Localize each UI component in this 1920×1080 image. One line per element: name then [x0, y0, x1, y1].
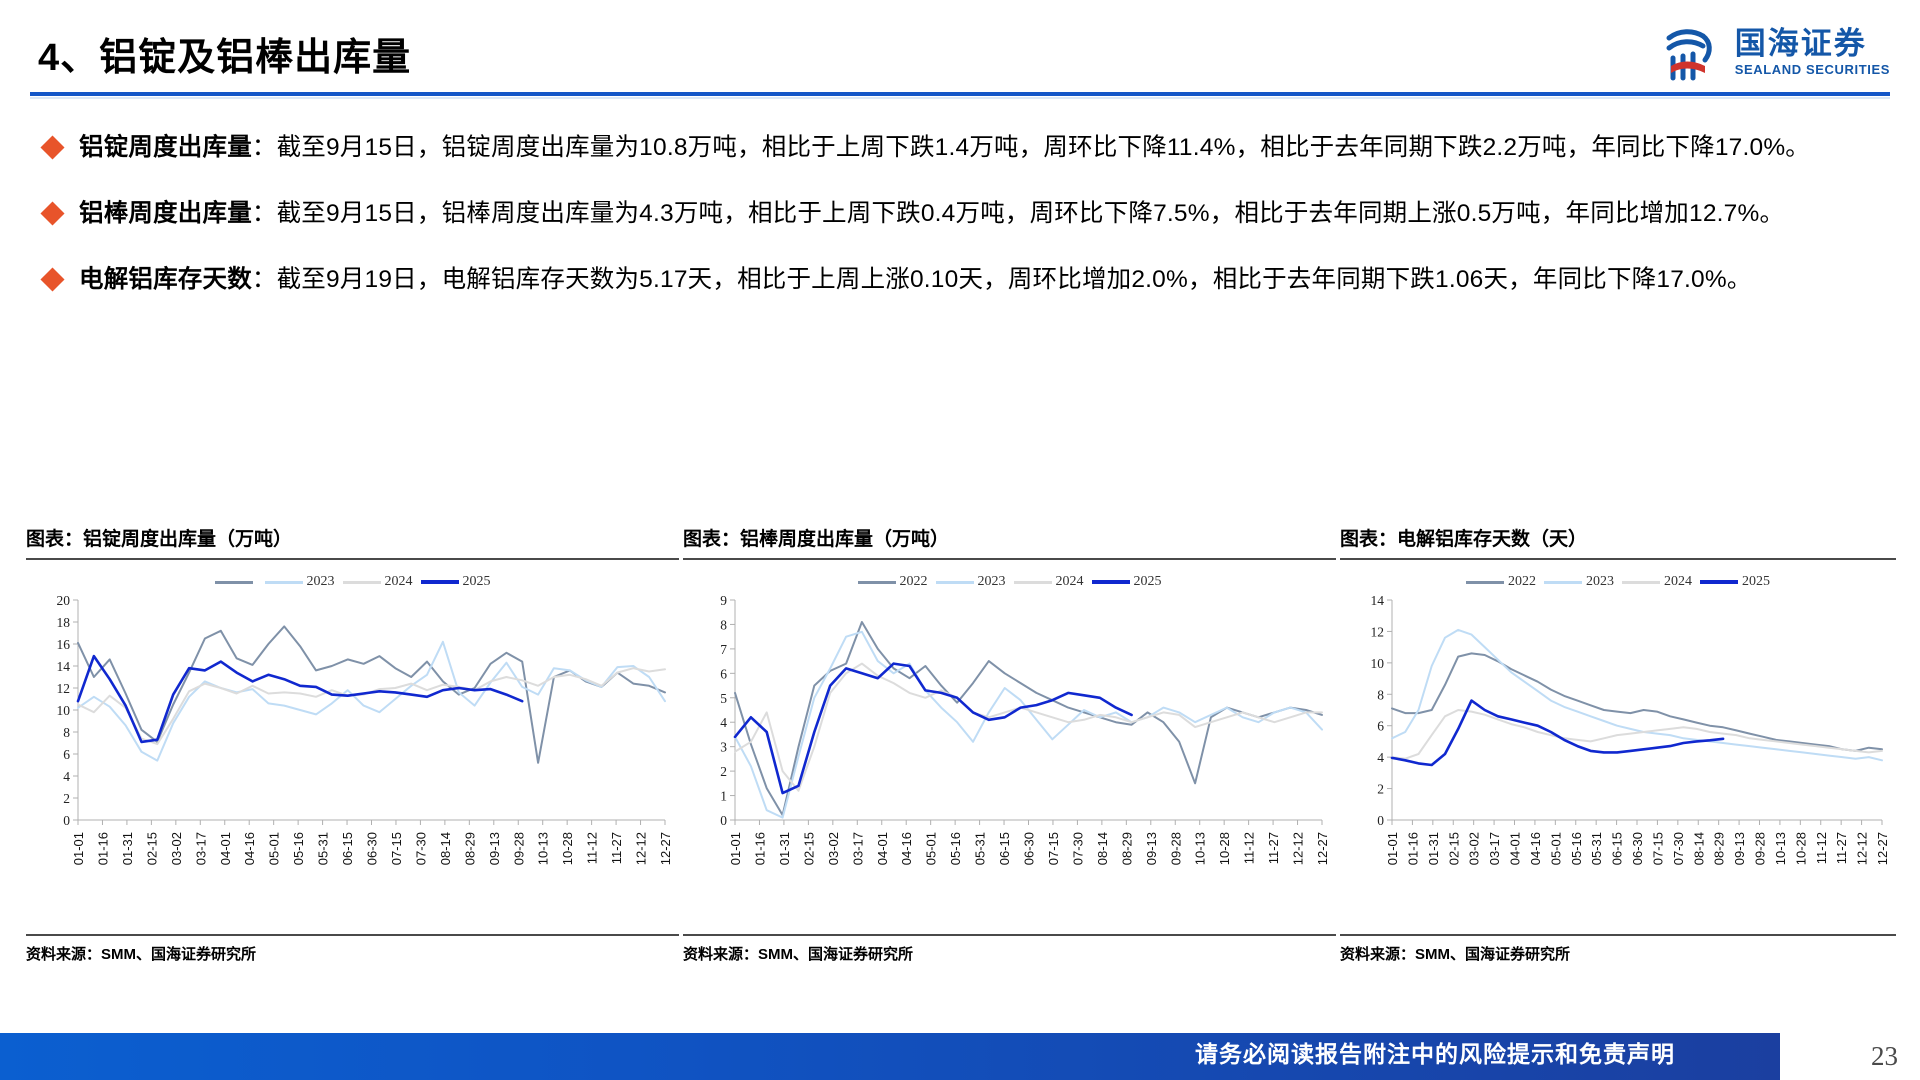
x-tick-label: 09-13	[1732, 832, 1747, 865]
svg-text:12: 12	[57, 681, 71, 696]
x-tick-label: 08-29	[462, 832, 477, 865]
svg-text:14: 14	[57, 659, 71, 674]
x-tick-label: 01-01	[1385, 832, 1400, 865]
chart-source: 资料来源：SMM、国海证券研究所	[26, 936, 679, 964]
x-tick-label: 12-12	[634, 832, 649, 865]
x-tick-label: 10-28	[1793, 832, 1808, 865]
list-item: 铝棒周度出库量：截至9月15日，铝棒周度出库量为4.3万吨，相比于上周下跌0.4…	[44, 194, 1880, 234]
legend-item: 2023	[1544, 574, 1614, 590]
bullet-body: ：截至9月19日，电解铝库存天数为5.17天，相比于上周上涨0.10天，周环比增…	[252, 266, 1752, 293]
x-tick-label: 07-15	[389, 832, 404, 865]
x-tick-label: 01-16	[95, 832, 110, 865]
bullet-lead: 铝锭周度出库量	[79, 134, 252, 161]
x-tick-label: 04-16	[899, 832, 914, 865]
x-tick-label: 07-15	[1650, 832, 1665, 865]
chart-panel-inventory-days: 图表：电解铝库存天数（天） 2022202320242025 024681012…	[1340, 524, 1896, 964]
x-tick-label: 04-16	[1528, 832, 1543, 865]
x-tick-label: 03-02	[826, 832, 841, 865]
svg-text:4: 4	[720, 715, 727, 730]
bullet-body: ：截至9月15日，铝棒周度出库量为4.3万吨，相比于上周下跌0.4万吨，周环比下…	[252, 200, 1784, 227]
legend-item: 2025	[1092, 574, 1162, 590]
series-line-2024	[78, 668, 665, 744]
x-tick-label: 10-28	[1217, 832, 1232, 865]
chart-legend: 2022202320242025	[683, 560, 1336, 592]
svg-text:5: 5	[720, 691, 727, 706]
x-tick-label: 07-30	[413, 832, 428, 865]
legend-item: 2024	[1622, 574, 1692, 590]
bullet-list: 铝锭周度出库量：截至9月15日，铝锭周度出库量为10.8万吨，相比于上周下跌1.…	[44, 128, 1880, 326]
bullet-lead: 铝棒周度出库量	[79, 200, 252, 227]
chart-source: 资料来源：SMM、国海证券研究所	[1340, 936, 1896, 964]
line-chart: 0246810121401-0101-1601-3102-1503-0203-1…	[1340, 592, 1896, 932]
x-tick-label: 12-27	[1875, 832, 1890, 865]
x-tick-label: 09-28	[511, 832, 526, 865]
x-tick-label: 11-12	[1814, 832, 1829, 864]
legend-item: 2024	[343, 574, 413, 590]
svg-text:7: 7	[720, 642, 727, 657]
legend-item: 2023	[265, 574, 335, 590]
x-tick-label: 02-15	[1446, 832, 1461, 865]
svg-text:6: 6	[63, 747, 70, 762]
legend-label: 2023	[1586, 574, 1614, 590]
x-tick-label: 01-31	[777, 832, 792, 865]
x-tick-label: 08-29	[1119, 832, 1134, 865]
bullet-text: 铝棒周度出库量：截至9月15日，铝棒周度出库量为4.3万吨，相比于上周下跌0.4…	[79, 194, 1784, 234]
legend-swatch	[343, 581, 381, 584]
diamond-bullet-icon	[40, 201, 64, 225]
svg-text:10: 10	[1371, 656, 1385, 671]
series-line-2025	[78, 656, 522, 742]
x-tick-label: 07-30	[1070, 832, 1085, 865]
x-tick-label: 07-30	[1671, 832, 1686, 865]
x-tick-label: 05-31	[1589, 832, 1604, 865]
chart-canvas: 0246810121401-0101-1601-3102-1503-0203-1…	[1340, 592, 1896, 932]
x-tick-label: 01-01	[728, 832, 743, 865]
legend-label: 2024	[1664, 574, 1692, 590]
legend-swatch	[421, 580, 459, 584]
x-tick-label: 08-14	[438, 832, 453, 865]
svg-text:8: 8	[63, 725, 70, 740]
x-tick-label: 10-13	[536, 832, 551, 865]
line-chart: 012345678901-0101-1601-3102-1503-0203-17…	[683, 592, 1336, 932]
x-tick-label: 10-28	[560, 832, 575, 865]
x-tick-label: 05-16	[1569, 832, 1584, 865]
series-line-2022	[1392, 653, 1882, 751]
x-tick-label: 04-01	[875, 832, 890, 865]
chart-panel-aluminium-ingot: 图表：铝锭周度出库量（万吨） 202320242025 024681012141…	[26, 524, 679, 964]
x-tick-label: 12-27	[658, 832, 673, 865]
x-tick-label: 09-28	[1753, 832, 1768, 865]
chart-legend: 2022202320242025	[1340, 560, 1896, 592]
svg-text:8: 8	[1377, 687, 1384, 702]
x-tick-label: 04-16	[242, 832, 257, 865]
x-tick-label: 01-31	[1426, 832, 1441, 865]
svg-text:6: 6	[1377, 719, 1384, 734]
legend-swatch	[858, 581, 896, 584]
legend-label: 2022	[900, 574, 928, 590]
svg-text:14: 14	[1371, 593, 1385, 608]
x-tick-label: 06-15	[340, 832, 355, 865]
svg-text:3: 3	[720, 740, 727, 755]
header-divider-light	[30, 97, 1890, 99]
x-tick-label: 05-01	[1548, 832, 1563, 865]
x-tick-label: 02-15	[801, 832, 816, 865]
x-tick-label: 11-27	[609, 832, 624, 864]
diamond-bullet-icon	[40, 267, 64, 291]
list-item: 铝锭周度出库量：截至9月15日，铝锭周度出库量为10.8万吨，相比于上周下跌1.…	[44, 128, 1880, 168]
x-tick-label: 05-16	[948, 832, 963, 865]
svg-text:1: 1	[720, 789, 727, 804]
svg-text:2: 2	[1377, 782, 1384, 797]
svg-text:20: 20	[57, 593, 71, 608]
x-tick-label: 06-15	[1610, 832, 1625, 865]
legend-item: 2025	[421, 574, 491, 590]
svg-text:16: 16	[57, 637, 71, 652]
x-tick-label: 10-13	[1193, 832, 1208, 865]
legend-swatch	[1622, 581, 1660, 584]
legend-item: 2022	[1466, 574, 1536, 590]
list-item: 电解铝库存天数：截至9月19日，电解铝库存天数为5.17天，相比于上周上涨0.1…	[44, 260, 1880, 300]
svg-text:18: 18	[57, 615, 71, 630]
x-tick-label: 05-01	[267, 832, 282, 865]
x-tick-label: 09-28	[1168, 832, 1183, 865]
x-tick-label: 05-31	[316, 832, 331, 865]
x-tick-label: 09-13	[487, 832, 502, 865]
svg-text:0: 0	[720, 813, 727, 828]
svg-text:4: 4	[1377, 750, 1384, 765]
legend-swatch	[1014, 581, 1052, 584]
legend-swatch	[215, 581, 253, 584]
sealand-logo-icon	[1663, 22, 1725, 84]
x-tick-label: 09-13	[1144, 832, 1159, 865]
legend-label: 2025	[463, 574, 491, 590]
legend-label: 2023	[307, 574, 335, 590]
panel-title: 图表：铝锭周度出库量（万吨）	[26, 524, 679, 558]
panel-title: 图表：电解铝库存天数（天）	[1340, 524, 1896, 558]
legend-label: 2025	[1134, 574, 1162, 590]
page-number: 23	[1871, 1041, 1898, 1072]
chart-canvas: 0246810121416182001-0101-1601-3102-1503-…	[26, 592, 679, 932]
bullet-text: 铝锭周度出库量：截至9月15日，铝锭周度出库量为10.8万吨，相比于上周下跌1.…	[79, 128, 1810, 168]
svg-text:0: 0	[1377, 813, 1384, 828]
x-tick-label: 01-16	[1405, 832, 1420, 865]
svg-text:0: 0	[63, 813, 70, 828]
legend-swatch	[1544, 581, 1582, 584]
legend-label: 2022	[1508, 574, 1536, 590]
chart-legend: 202320242025	[26, 560, 679, 592]
legend-swatch	[265, 581, 303, 584]
legend-swatch	[1700, 580, 1738, 584]
x-tick-label: 01-16	[752, 832, 767, 865]
legend-item	[215, 581, 257, 584]
x-tick-label: 03-17	[1487, 832, 1502, 865]
x-tick-label: 04-01	[1508, 832, 1523, 865]
legend-swatch	[936, 581, 974, 584]
x-tick-label: 07-15	[1046, 832, 1061, 865]
x-tick-label: 11-12	[585, 832, 600, 864]
x-tick-label: 10-13	[1773, 832, 1788, 865]
x-tick-label: 12-27	[1315, 832, 1330, 865]
svg-text:10: 10	[57, 703, 71, 718]
legend-item: 2022	[858, 574, 928, 590]
legend-item: 2023	[936, 574, 1006, 590]
series-line-2025	[1392, 701, 1723, 765]
diamond-bullet-icon	[40, 135, 64, 159]
x-tick-label: 12-12	[1291, 832, 1306, 865]
svg-text:2: 2	[63, 791, 70, 806]
x-tick-label: 08-29	[1712, 832, 1727, 865]
legend-item: 2024	[1014, 574, 1084, 590]
panel-title: 图表：铝棒周度出库量（万吨）	[683, 524, 1336, 558]
line-chart: 0246810121416182001-0101-1601-3102-1503-…	[26, 592, 679, 932]
x-tick-label: 01-01	[71, 832, 86, 865]
svg-text:8: 8	[720, 617, 727, 632]
chart-source: 资料来源：SMM、国海证券研究所	[683, 936, 1336, 964]
bullet-lead: 电解铝库存天数	[79, 266, 252, 293]
x-tick-label: 06-15	[997, 832, 1012, 865]
x-tick-label: 01-31	[120, 832, 135, 865]
x-tick-label: 03-17	[193, 832, 208, 865]
legend-label: 2025	[1742, 574, 1770, 590]
x-tick-label: 06-30	[1022, 832, 1037, 865]
footer-notice: 请务必阅读报告附注中的风险提示和免责声明	[1195, 1035, 1675, 1069]
x-tick-label: 06-30	[365, 832, 380, 865]
svg-text:12: 12	[1371, 624, 1385, 639]
legend-item: 2025	[1700, 574, 1770, 590]
x-tick-label: 11-12	[1242, 832, 1257, 864]
logo-text-cn: 国海证券	[1735, 28, 1890, 61]
x-tick-label: 11-27	[1266, 832, 1281, 864]
x-tick-label: 02-15	[144, 832, 159, 865]
x-tick-label: 06-30	[1630, 832, 1645, 865]
x-tick-label: 05-16	[291, 832, 306, 865]
x-tick-label: 08-14	[1095, 832, 1110, 865]
series-line-2023	[1392, 630, 1882, 760]
x-tick-label: 05-01	[924, 832, 939, 865]
series-line-2023	[735, 632, 1322, 818]
header-divider	[30, 92, 1890, 96]
svg-text:9: 9	[720, 593, 727, 608]
company-logo: 国海证券 SEALAND SECURITIES	[1663, 22, 1890, 84]
legend-label: 2024	[1056, 574, 1084, 590]
x-tick-label: 04-01	[218, 832, 233, 865]
svg-text:4: 4	[63, 769, 70, 784]
chart-canvas: 012345678901-0101-1601-3102-1503-0203-17…	[683, 592, 1336, 932]
legend-label: 2023	[978, 574, 1006, 590]
x-tick-label: 03-02	[169, 832, 184, 865]
svg-text:2: 2	[720, 764, 727, 779]
x-tick-label: 03-02	[1467, 832, 1482, 865]
logo-text-en: SEALAND SECURITIES	[1735, 62, 1890, 78]
x-tick-label: 03-17	[850, 832, 865, 865]
x-tick-label: 05-31	[973, 832, 988, 865]
legend-swatch	[1092, 580, 1130, 584]
legend-label: 2024	[385, 574, 413, 590]
bullet-text: 电解铝库存天数：截至9月19日，电解铝库存天数为5.17天，相比于上周上涨0.1…	[79, 260, 1752, 300]
x-tick-label: 11-27	[1834, 832, 1849, 864]
chart-panel-aluminium-bar: 图表：铝棒周度出库量（万吨） 2022202320242025 01234567…	[683, 524, 1336, 964]
svg-text:6: 6	[720, 666, 727, 681]
x-tick-label: 12-12	[1855, 832, 1870, 865]
page-title: 4、铝锭及铝棒出库量	[38, 26, 411, 81]
bullet-body: ：截至9月15日，铝锭周度出库量为10.8万吨，相比于上周下跌1.4万吨，周环比…	[252, 134, 1810, 161]
x-tick-label: 08-14	[1691, 832, 1706, 865]
legend-swatch	[1466, 581, 1504, 584]
